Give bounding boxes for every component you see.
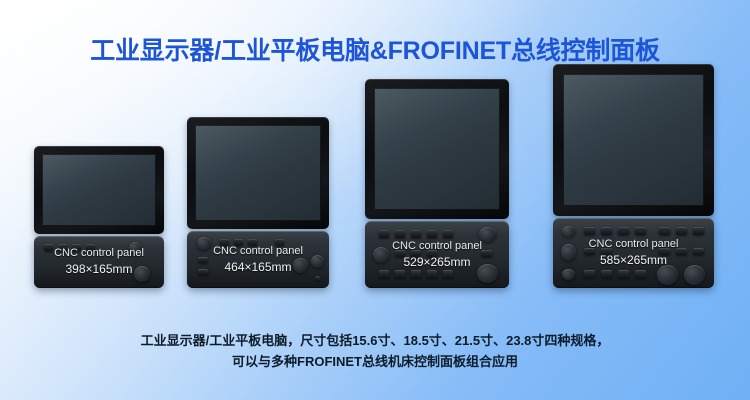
panel-button[interactable] [198,269,208,275]
panel-knob[interactable] [311,255,324,268]
panel-button[interactable] [676,227,687,235]
panel-button[interactable] [86,244,95,251]
panel-button[interactable] [411,270,421,278]
panel-button[interactable] [676,248,687,255]
panel-button[interactable] [659,248,670,255]
panel-button[interactable] [584,270,595,278]
panel-button[interactable] [601,227,612,235]
panel-button[interactable] [72,244,81,251]
panel-button[interactable] [659,227,670,235]
control-panel-4[interactable]: CNC control panel 585×265mm [553,218,714,288]
monitor-bezel-4 [553,64,714,216]
product-unit-4[interactable]: CNC control panel 585×265mm [553,64,714,288]
monitor-screen-1 [42,154,156,226]
panel-button[interactable] [248,239,257,246]
panel-button[interactable] [443,270,453,278]
panel-button[interactable] [601,248,612,255]
monitor-bezel-1 [34,146,164,234]
panel-button[interactable] [635,227,646,235]
panel-knob[interactable] [657,265,678,285]
product-unit-3[interactable]: CNC control panel 529×265mm [365,79,509,288]
panel-knob[interactable] [477,264,498,283]
footer-line-1: 工业显示器/工业平板电脑，尺寸包括15.6寸、18.5寸、21.5寸、23.8寸… [0,330,750,351]
monitor-bezel-3 [365,79,509,219]
control-panel-1[interactable]: CNC control panel 398×165mm [34,236,164,288]
panel-button[interactable] [618,227,629,235]
panel-button[interactable] [315,276,320,281]
monitor-bezel-2 [187,117,329,229]
panel-button[interactable] [481,250,492,257]
product-unit-2[interactable]: CNC control panel 464×165mm [187,117,329,288]
footer-line-2: 可以与多种FROFINET总线机床控制面板组合应用 [0,351,750,372]
panel-button[interactable] [395,270,405,278]
panel-dimension-label: 464×165mm [224,259,291,276]
panel-button[interactable] [395,230,405,238]
control-panel-3[interactable]: CNC control panel 529×265mm [365,221,509,288]
panel-button[interactable] [427,250,437,257]
panel-name-label: CNC control panel [392,239,482,254]
panel-button[interactable] [584,227,595,235]
panel-button[interactable] [379,230,389,238]
monitor-screen-4 [563,74,704,206]
panel-button[interactable] [618,270,629,278]
panel-button[interactable] [198,257,208,263]
panel-knob[interactable] [562,226,575,237]
panel-knob[interactable] [197,237,211,250]
panel-button[interactable] [693,227,704,235]
panel-button[interactable] [275,239,284,246]
panel-button[interactable] [693,248,704,255]
panel-button[interactable] [427,230,437,238]
panel-button[interactable] [379,270,389,278]
panel-dimension-label: 398×165mm [65,261,132,278]
panel-button[interactable] [584,248,595,255]
panel-button[interactable] [411,250,421,257]
panel-button[interactable] [58,244,67,251]
panel-button[interactable] [635,270,646,278]
panel-knob[interactable] [684,265,705,285]
panel-button[interactable] [234,239,243,246]
footer-description: 工业显示器/工业平板电脑，尺寸包括15.6寸、18.5寸、21.5寸、23.8寸… [0,330,750,372]
panel-knob[interactable] [561,244,576,261]
panel-button[interactable] [220,239,229,246]
product-unit-1[interactable]: CNC control panel 398×165mm [34,146,164,288]
monitor-screen-2 [195,125,321,221]
panel-knob[interactable] [373,247,389,263]
panel-knob[interactable] [129,242,141,254]
panel-button[interactable] [427,270,437,278]
panel-button[interactable] [395,250,405,257]
panel-knob[interactable] [293,258,308,273]
panel-button[interactable] [411,230,421,238]
panel-knob[interactable] [562,269,575,280]
panel-knob[interactable] [479,227,496,242]
panel-button[interactable] [44,244,53,251]
panel-button[interactable] [443,230,453,238]
control-panel-2[interactable]: CNC control panel 464×165mm [187,231,329,288]
panel-button[interactable] [601,270,612,278]
monitor-screen-3 [374,88,500,210]
promo-banner: 工业显示器/工业平板电脑&FROFINET总线控制面板 CNC control … [0,0,750,400]
panel-knob[interactable] [134,266,150,282]
